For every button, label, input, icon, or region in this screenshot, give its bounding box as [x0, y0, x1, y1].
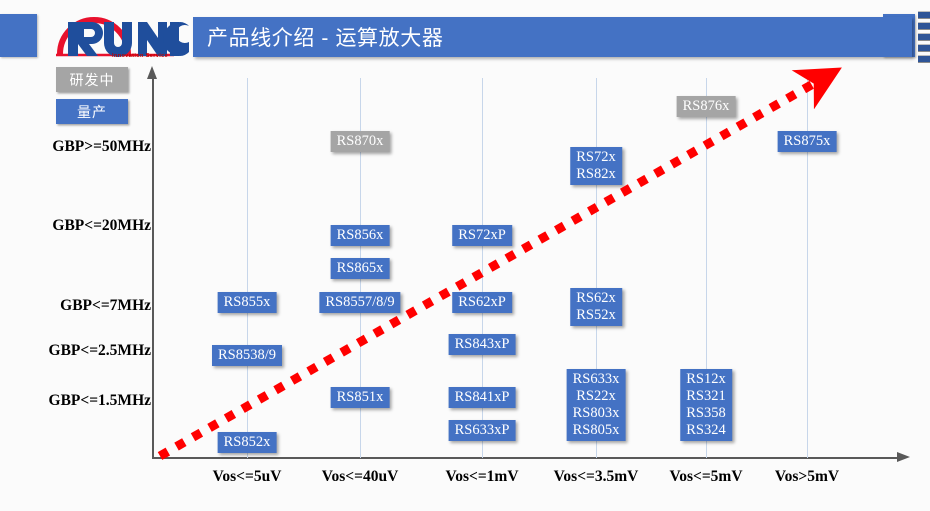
product-matrix-chart: GBP>=50MHzGBP<=20MHzGBP<=7MHzGBP<=2.5MHz… [0, 0, 930, 511]
part-label: RS72x [576, 149, 616, 166]
slide-canvas: Innovation Service 产品线介绍 - 运算放大器 研发中 量产 … [0, 0, 930, 511]
part-label: RS358 [686, 405, 726, 422]
part-box[interactable]: RS72xRS82x [570, 147, 622, 185]
x-axis-label: Vos<=1mV [445, 468, 518, 486]
part-label: RS324 [686, 422, 726, 439]
part-label: RS843xP [455, 336, 510, 353]
part-box[interactable]: RS855x [218, 292, 277, 313]
part-box[interactable]: RS8538/9 [212, 345, 282, 366]
part-label: RS852x [224, 434, 271, 451]
part-label: RS803x [573, 405, 620, 422]
y-axis-arrow [147, 66, 157, 79]
y-axis-label: GBP<=20MHz [52, 217, 151, 235]
part-box[interactable]: RS852x [218, 432, 277, 453]
part-label: RS72xP [458, 227, 506, 244]
x-axis-label: Vos<=5mV [669, 468, 742, 486]
x-axis-line [153, 457, 901, 459]
y-axis-label: GBP<=7MHz [60, 297, 151, 315]
part-label: RS62xP [458, 294, 506, 311]
y-axis-label: GBP<=2.5MHz [49, 342, 151, 360]
y-axis-label: GBP<=1.5MHz [49, 392, 151, 410]
part-label: RS8557/8/9 [325, 294, 394, 311]
y-axis-line [152, 78, 154, 459]
x-axis-arrow [897, 452, 910, 462]
part-label: RS805x [573, 422, 620, 439]
part-box[interactable]: RS62xRS52x [570, 288, 622, 326]
part-box[interactable]: RS841xP [449, 387, 516, 408]
part-label: RS62x [576, 290, 616, 307]
y-axis-label: GBP>=50MHz [52, 138, 151, 156]
part-box[interactable]: RS870x [331, 131, 390, 152]
part-label: RS52x [576, 307, 616, 324]
part-label: RS841xP [455, 389, 510, 406]
x-axis-label: Vos<=3.5mV [554, 468, 639, 486]
part-label: RS12x [686, 371, 726, 388]
x-axis-label: Vos<=5uV [213, 468, 282, 486]
part-box[interactable]: RS633xP [449, 420, 516, 441]
part-box[interactable]: RS8557/8/9 [319, 292, 400, 313]
part-label: RS876x [683, 98, 730, 115]
part-box[interactable]: RS876x [677, 96, 736, 117]
part-box[interactable]: RS633xRS22xRS803xRS805x [567, 369, 626, 441]
part-label: RS633x [573, 371, 620, 388]
part-label: RS865x [337, 260, 384, 277]
part-label: RS875x [784, 133, 831, 150]
part-label: RS851x [337, 389, 384, 406]
part-label: RS82x [576, 166, 616, 183]
part-box[interactable]: RS865x [331, 258, 390, 279]
part-label: RS633xP [455, 422, 510, 439]
x-axis-label: Vos<=40uV [322, 468, 399, 486]
part-label: RS870x [337, 133, 384, 150]
part-box[interactable]: RS12xRS321RS358RS324 [680, 369, 732, 441]
part-label: RS8538/9 [218, 347, 276, 364]
part-box[interactable]: RS843xP [449, 334, 516, 355]
part-box[interactable]: RS875x [778, 131, 837, 152]
part-box[interactable]: RS856x [331, 225, 390, 246]
part-box[interactable]: RS851x [331, 387, 390, 408]
part-label: RS855x [224, 294, 271, 311]
part-label: RS22x [576, 388, 616, 405]
part-label: RS321 [686, 388, 726, 405]
gridline-vos5uv [247, 78, 248, 458]
part-box[interactable]: RS72xP [452, 225, 512, 246]
part-label: RS856x [337, 227, 384, 244]
part-box[interactable]: RS62xP [452, 292, 512, 313]
x-axis-label: Vos>5mV [775, 468, 839, 486]
